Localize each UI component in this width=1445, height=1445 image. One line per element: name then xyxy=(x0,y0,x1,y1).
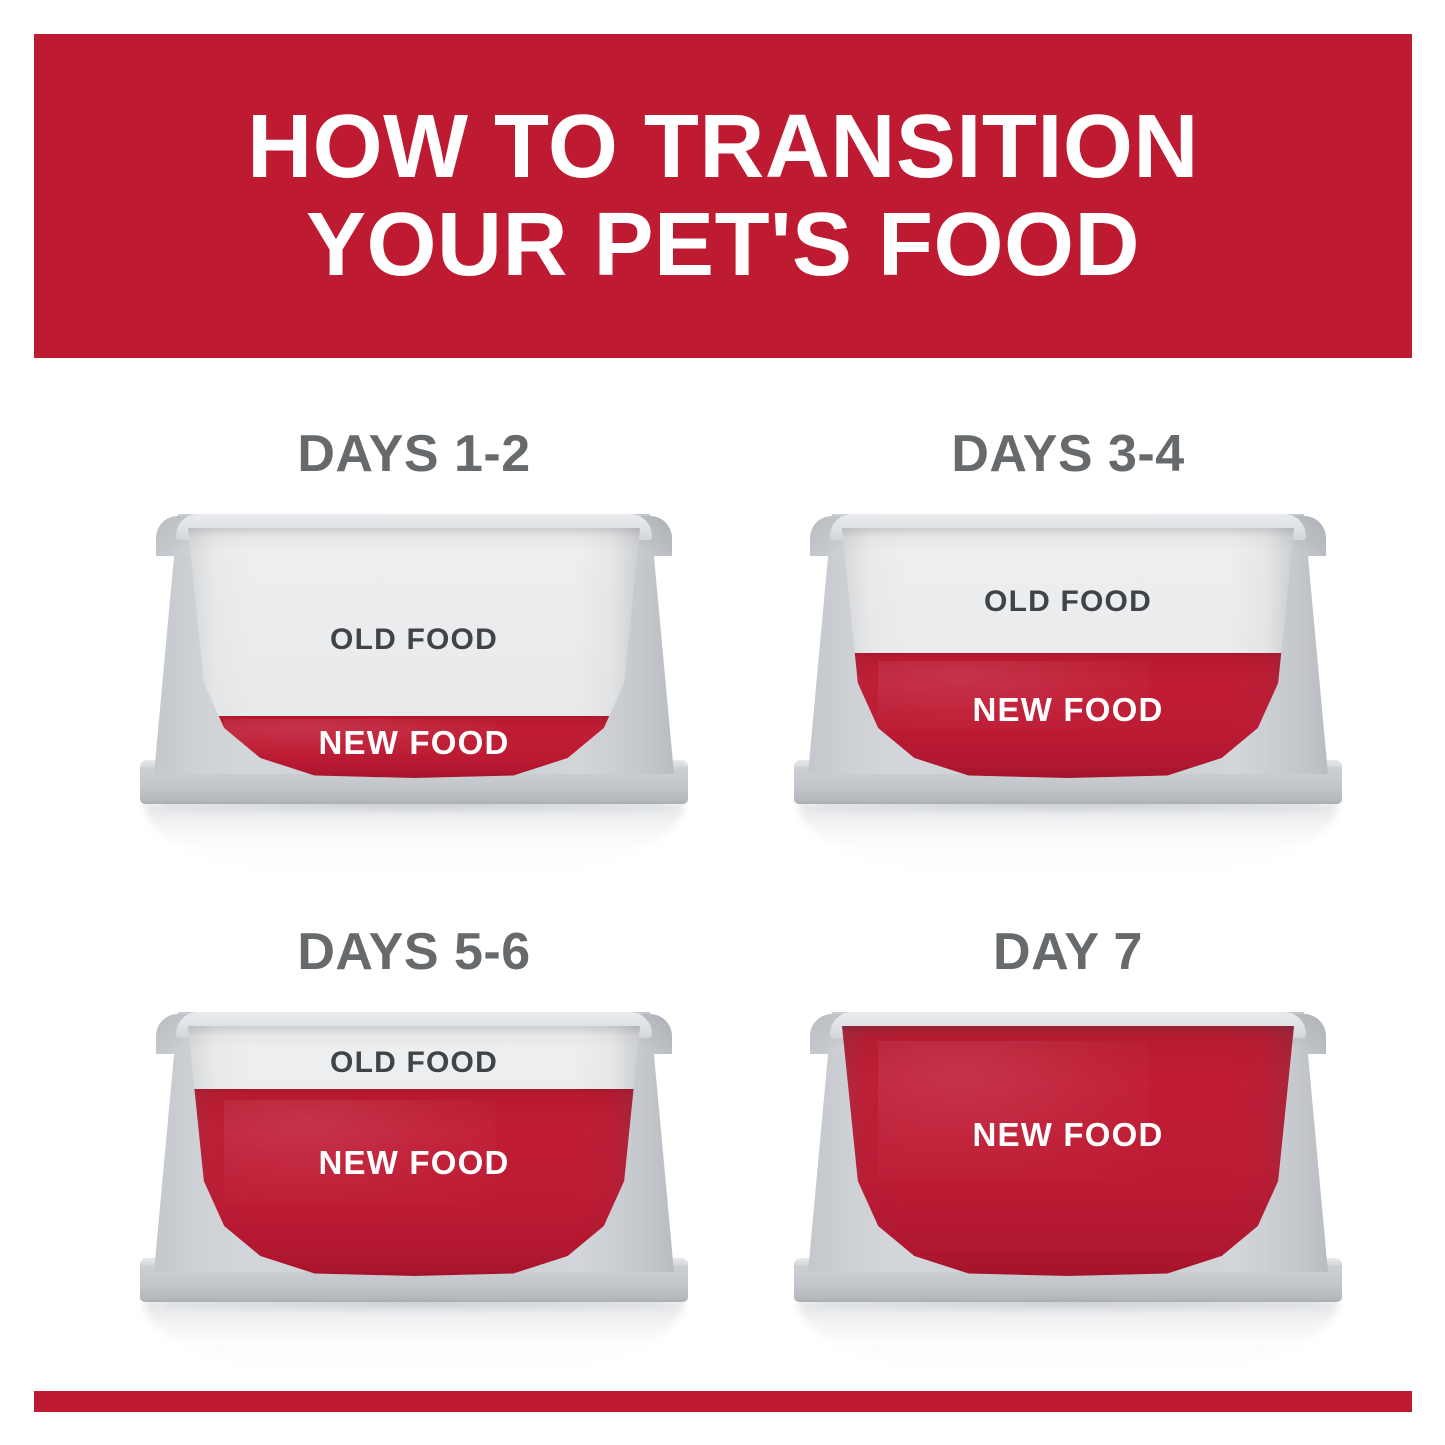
step-2-old-food-label: OLD FOOD xyxy=(842,585,1294,619)
step-1-old-food-label: OLD FOOD xyxy=(188,623,640,657)
transition-step-2: DAYS 3-4 OLD FOOD NEW FOOD xyxy=(748,402,1388,882)
step-4-new-food-label: NEW FOOD xyxy=(842,1116,1294,1154)
bowl-reflection xyxy=(144,802,684,874)
step-4-food-bowl: NEW FOOD xyxy=(748,1000,1388,1360)
transition-step-1: DAYS 1-2 OLD FOOD NEW FOOD xyxy=(94,402,734,882)
step-2-food-bowl: OLD FOOD NEW FOOD xyxy=(748,502,1388,862)
transition-step-3: DAYS 5-6 OLD FOOD NEW FOOD xyxy=(94,900,734,1380)
new-food-fill xyxy=(188,1089,640,1277)
page-title: HOW TO TRANSITION YOUR PET'S FOOD xyxy=(74,98,1372,294)
infographic-page: HOW TO TRANSITION YOUR PET'S FOOD DAYS 1… xyxy=(0,0,1445,1445)
transition-steps-grid: DAYS 1-2 OLD FOOD NEW FOOD xyxy=(34,380,1412,1370)
bowl-reflection xyxy=(144,1300,684,1372)
new-food-sheen xyxy=(878,1041,1149,1179)
step-3-food-bowl: OLD FOOD NEW FOOD xyxy=(94,1000,734,1360)
step-4-day-label: DAY 7 xyxy=(748,922,1388,982)
bowl-reflection xyxy=(798,1300,1338,1372)
step-3-old-food-label: OLD FOOD xyxy=(188,1046,640,1080)
bowl-food-well: OLD FOOD NEW FOOD xyxy=(188,1026,640,1276)
step-1-food-bowl: OLD FOOD NEW FOOD xyxy=(94,502,734,862)
bowl-food-well: OLD FOOD NEW FOOD xyxy=(188,528,640,778)
header-banner: HOW TO TRANSITION YOUR PET'S FOOD xyxy=(34,34,1412,358)
bowl-food-well: NEW FOOD xyxy=(842,1026,1294,1276)
step-1-day-label: DAYS 1-2 xyxy=(94,424,734,484)
step-2-day-label: DAYS 3-4 xyxy=(748,424,1388,484)
step-3-new-food-label: NEW FOOD xyxy=(188,1144,640,1182)
bowl-food-well: OLD FOOD NEW FOOD xyxy=(842,528,1294,778)
bowl-reflection xyxy=(798,802,1338,874)
step-3-day-label: DAYS 5-6 xyxy=(94,922,734,982)
step-2-new-food-label: NEW FOOD xyxy=(842,691,1294,729)
transition-step-4: DAY 7 NEW FOOD xyxy=(748,900,1388,1380)
footer-rule xyxy=(34,1391,1412,1412)
